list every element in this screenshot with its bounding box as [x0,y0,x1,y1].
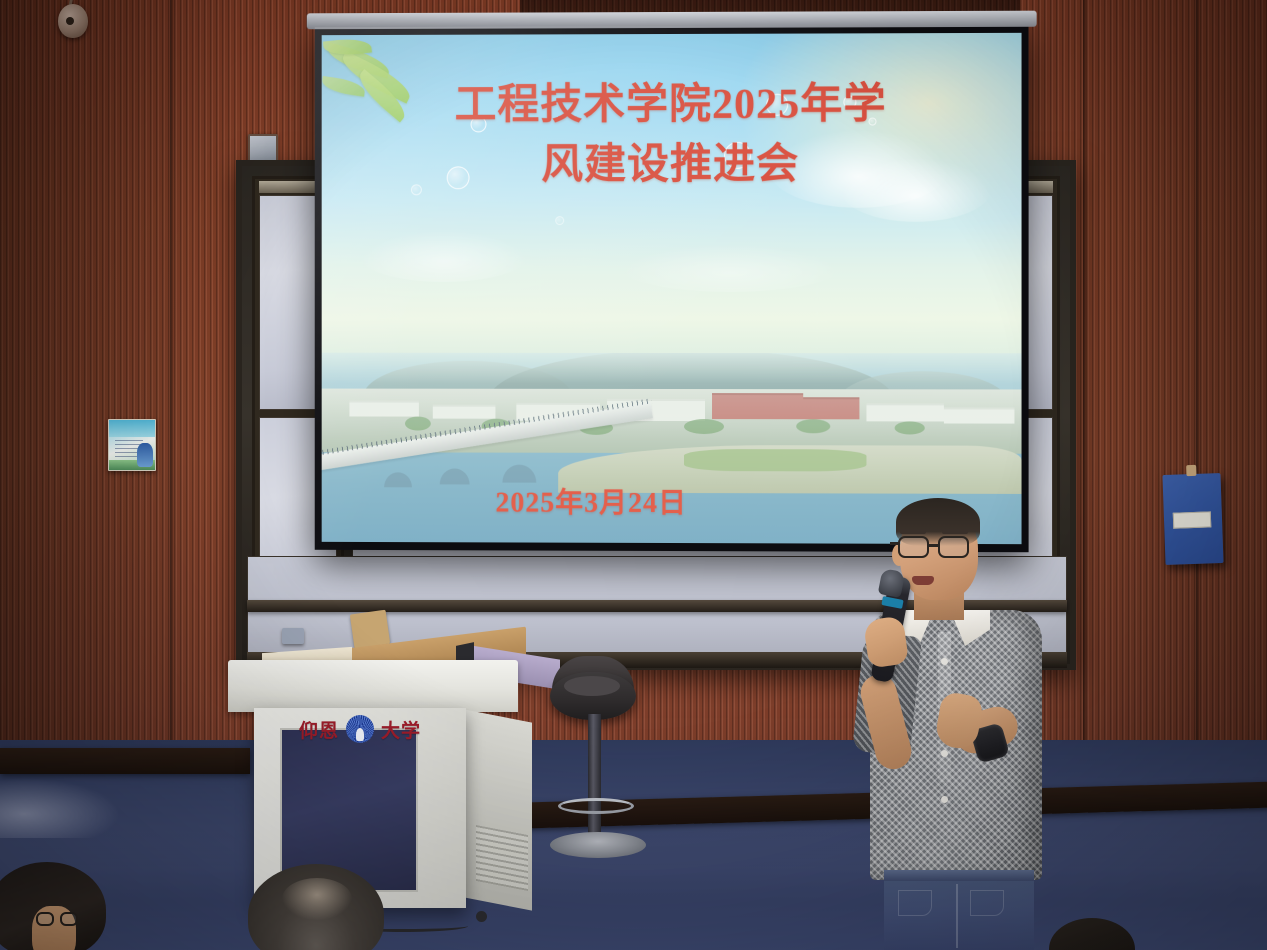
slide-title-line-2: 风建设推进会 [367,135,975,196]
audience-scalp [282,878,352,920]
university-emblem-icon [346,715,374,743]
folder-label [1173,511,1212,528]
stool-gas-post [588,714,601,834]
podium-caster [476,911,487,922]
floor-light-reflection [0,778,120,838]
slide-date: 2025年3月24日 [495,481,687,521]
audience-eyeglasses-icon [36,912,80,928]
presenter-belt-line [884,870,1034,881]
podium-brand-right: 大学 [381,716,421,743]
wall-poster [108,419,156,471]
baseboard [0,748,250,774]
ceiling-speaker-dome-icon [58,4,88,38]
jeans-pocket [898,890,932,916]
presenter-mouth-speaking [912,576,934,585]
podium-brand-left: 仰恩 [299,716,339,743]
jeans-pocket [970,890,1004,916]
cloud [359,230,528,282]
presenter-eyebrow [942,530,968,534]
lecture-hall-scene: 工程技术学院2025年学 风建设推进会 2025年3月24日 仰恩 大学 [0,0,1267,950]
presenter-eyebrow [900,530,926,534]
poster-sky [109,420,155,437]
eyeglasses-icon [896,536,982,558]
glasses-lens-left [36,912,54,926]
poster-figure [137,443,153,467]
podium-front-panel-top [228,660,518,712]
slide-title-line-1: 工程技术学院2025年学 [367,75,975,136]
cloud [620,244,840,292]
glasses-lens-right [60,912,78,926]
jeans-seam [956,884,958,948]
presentation-slide: 工程技术学院2025年学 风建设推进会 2025年3月24日 [322,33,1022,544]
shirt-button [941,658,948,665]
shirt-button [941,750,948,757]
stool-cushion [564,676,620,696]
shirt-button [941,796,948,803]
podium-branding: 仰恩 大学 [254,708,466,750]
glasses-lens-right [938,536,969,558]
glasses-temple-arm [890,542,900,545]
bubble-icon [555,216,564,225]
presenter [846,498,1066,950]
stool-footrest-ring [558,798,634,814]
glasses-bridge [929,544,940,547]
podium-vents [476,825,528,891]
projection-screen[interactable]: 工程技术学院2025年学 风建设推进会 2025年3月24日 [315,25,1029,552]
stool-base-disc [550,832,646,858]
screen-roller-housing [307,11,1037,30]
slide-title: 工程技术学院2025年学 风建设推进会 [322,75,1022,196]
bar-stool[interactable] [536,656,656,866]
glasses-lens-left [898,536,929,558]
blue-hanging-folder[interactable] [1162,473,1223,565]
